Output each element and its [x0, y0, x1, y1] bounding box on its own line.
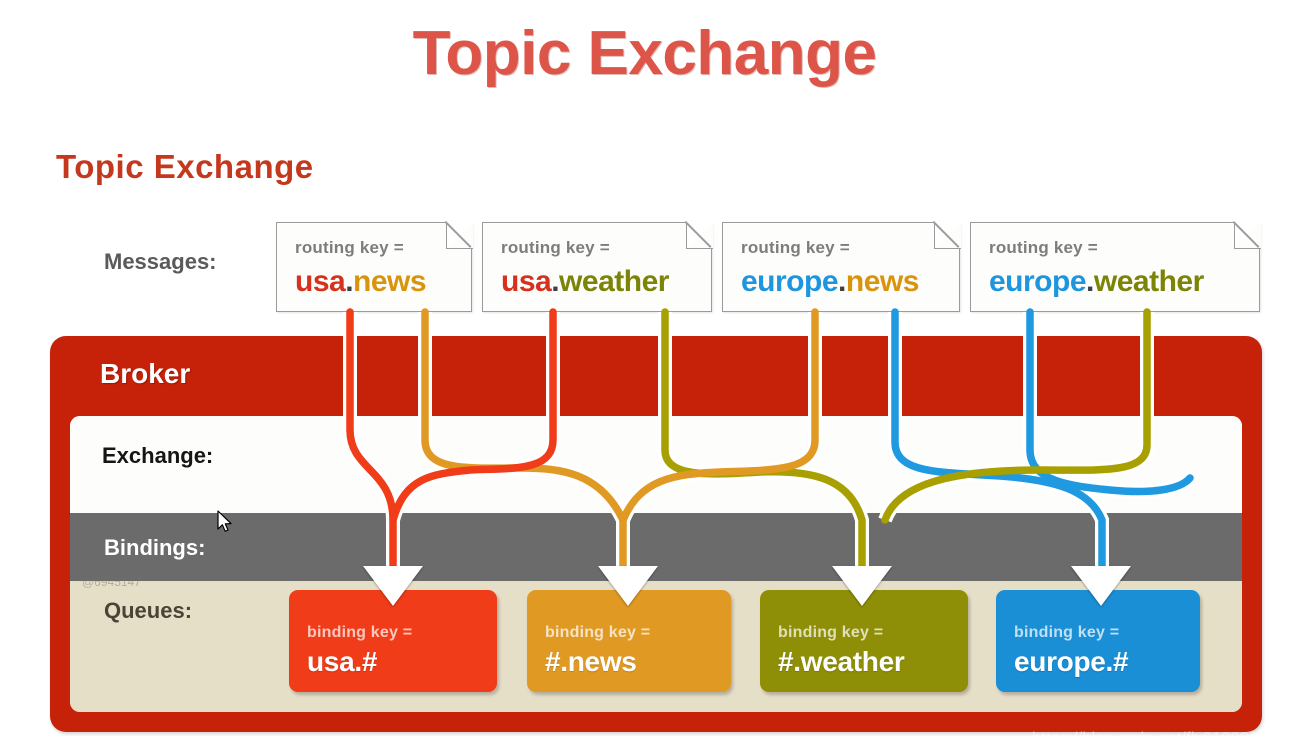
routing-key-value: usa.news: [295, 265, 426, 299]
page-fold-icon: [1234, 222, 1261, 249]
mouse-pointer-icon: [216, 510, 234, 534]
bindings-row-label: Bindings:: [104, 535, 205, 561]
watermark-id: @6945147: [82, 575, 141, 589]
routing-key-part-2: weather: [1094, 265, 1204, 298]
routing-key-value: usa.weather: [501, 265, 669, 299]
exchange-band: [70, 416, 1242, 513]
page-fold-icon: [446, 222, 473, 249]
page-fold-icon: [686, 222, 713, 249]
message-card: routing key = europe.news: [722, 222, 960, 312]
routing-key-value: europe.weather: [989, 265, 1204, 299]
message-card: routing key = usa.weather: [482, 222, 712, 312]
routing-key-caption: routing key =: [295, 238, 404, 258]
exchange-row-label: Exchange:: [102, 443, 213, 469]
binding-funnel-icon: [363, 566, 423, 606]
binding-funnel-icon: [598, 566, 658, 606]
queues-row-label: Queues:: [104, 598, 192, 624]
binding-key-value: #.weather: [778, 646, 904, 678]
routing-key-value: europe.news: [741, 265, 919, 299]
routing-key-caption: routing key =: [989, 238, 1098, 258]
binding-funnel-icon: [1071, 566, 1131, 606]
routing-key-part-1: usa: [501, 265, 551, 298]
message-card: routing key = usa.news: [276, 222, 472, 312]
routing-key-caption: routing key =: [741, 238, 850, 258]
routing-key-part-2: news: [846, 265, 919, 298]
routing-key-dot: .: [551, 265, 559, 298]
page-title: Topic Exchange: [0, 18, 1289, 89]
routing-key-part-1: europe: [741, 265, 838, 298]
broker-label: Broker: [100, 358, 190, 390]
slide-canvas: Topic Exchange Topic Exchange Messages: …: [0, 0, 1289, 756]
routing-key-part-1: europe: [989, 265, 1086, 298]
binding-key-caption: binding key =: [1014, 624, 1119, 642]
binding-funnel-icon: [832, 566, 892, 606]
binding-key-value: europe.#: [1014, 646, 1128, 678]
binding-key-caption: binding key =: [545, 624, 650, 642]
binding-key-value: #.news: [545, 646, 637, 678]
routing-key-caption: routing key =: [501, 238, 610, 258]
binding-key-caption: binding key =: [307, 624, 412, 642]
slide-heading: Topic Exchange: [56, 148, 314, 186]
binding-key-caption: binding key =: [778, 624, 883, 642]
routing-key-part-2: news: [353, 265, 426, 298]
message-card: routing key = europe.weather: [970, 222, 1260, 312]
routing-key-part-2: weather: [559, 265, 669, 298]
binding-key-value: usa.#: [307, 646, 377, 678]
watermark-url: https://blog.csdn.net/fly910905: [1032, 730, 1258, 748]
messages-row-label: Messages:: [104, 249, 217, 275]
page-fold-icon: [934, 222, 961, 249]
routing-key-dot: .: [345, 265, 353, 298]
routing-key-part-1: usa: [295, 265, 345, 298]
routing-key-dot: .: [1086, 265, 1094, 298]
routing-key-dot: .: [838, 265, 846, 298]
